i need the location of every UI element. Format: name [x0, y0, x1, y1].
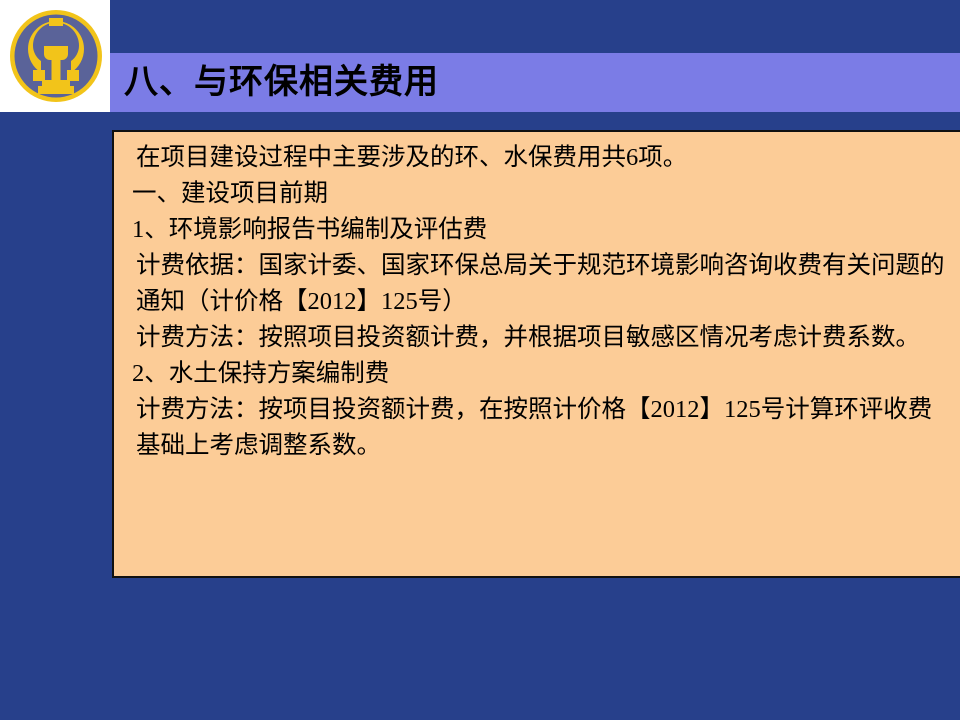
slide-title-bar: 八、与环保相关费用 [110, 53, 960, 112]
content-paragraph-method-2: 计费方法：按项目投资额计费，在按照计价格【2012】125号计算环评收费基础上考… [128, 392, 950, 464]
content-paragraph-item-2: 2、水土保持方案编制费 [128, 356, 950, 392]
presentation-slide: 八、与环保相关费用 在项目建设过程中主要涉及的环、水保费用共6项。 一、建设项目… [0, 0, 960, 720]
logo-plate [0, 0, 110, 112]
content-paragraph-basis-1: 计费依据：国家计委、国家环保总局关于规范环境影响咨询收费有关问题的通知（计价格【… [128, 248, 950, 320]
china-railway-emblem-icon [8, 8, 104, 104]
slide-title: 八、与环保相关费用 [124, 66, 439, 100]
content-paragraph-method-1: 计费方法：按照项目投资额计费，并根据项目敏感区情况考虑计费系数。 [128, 320, 950, 356]
content-paragraph-section-1: 一、建设项目前期 [128, 176, 950, 212]
content-paragraph-item-1: 1、环境影响报告书编制及评估费 [128, 212, 950, 248]
content-paragraph-intro: 在项目建设过程中主要涉及的环、水保费用共6项。 [128, 140, 950, 176]
slide-content-box: 在项目建设过程中主要涉及的环、水保费用共6项。 一、建设项目前期 1、环境影响报… [112, 130, 960, 578]
